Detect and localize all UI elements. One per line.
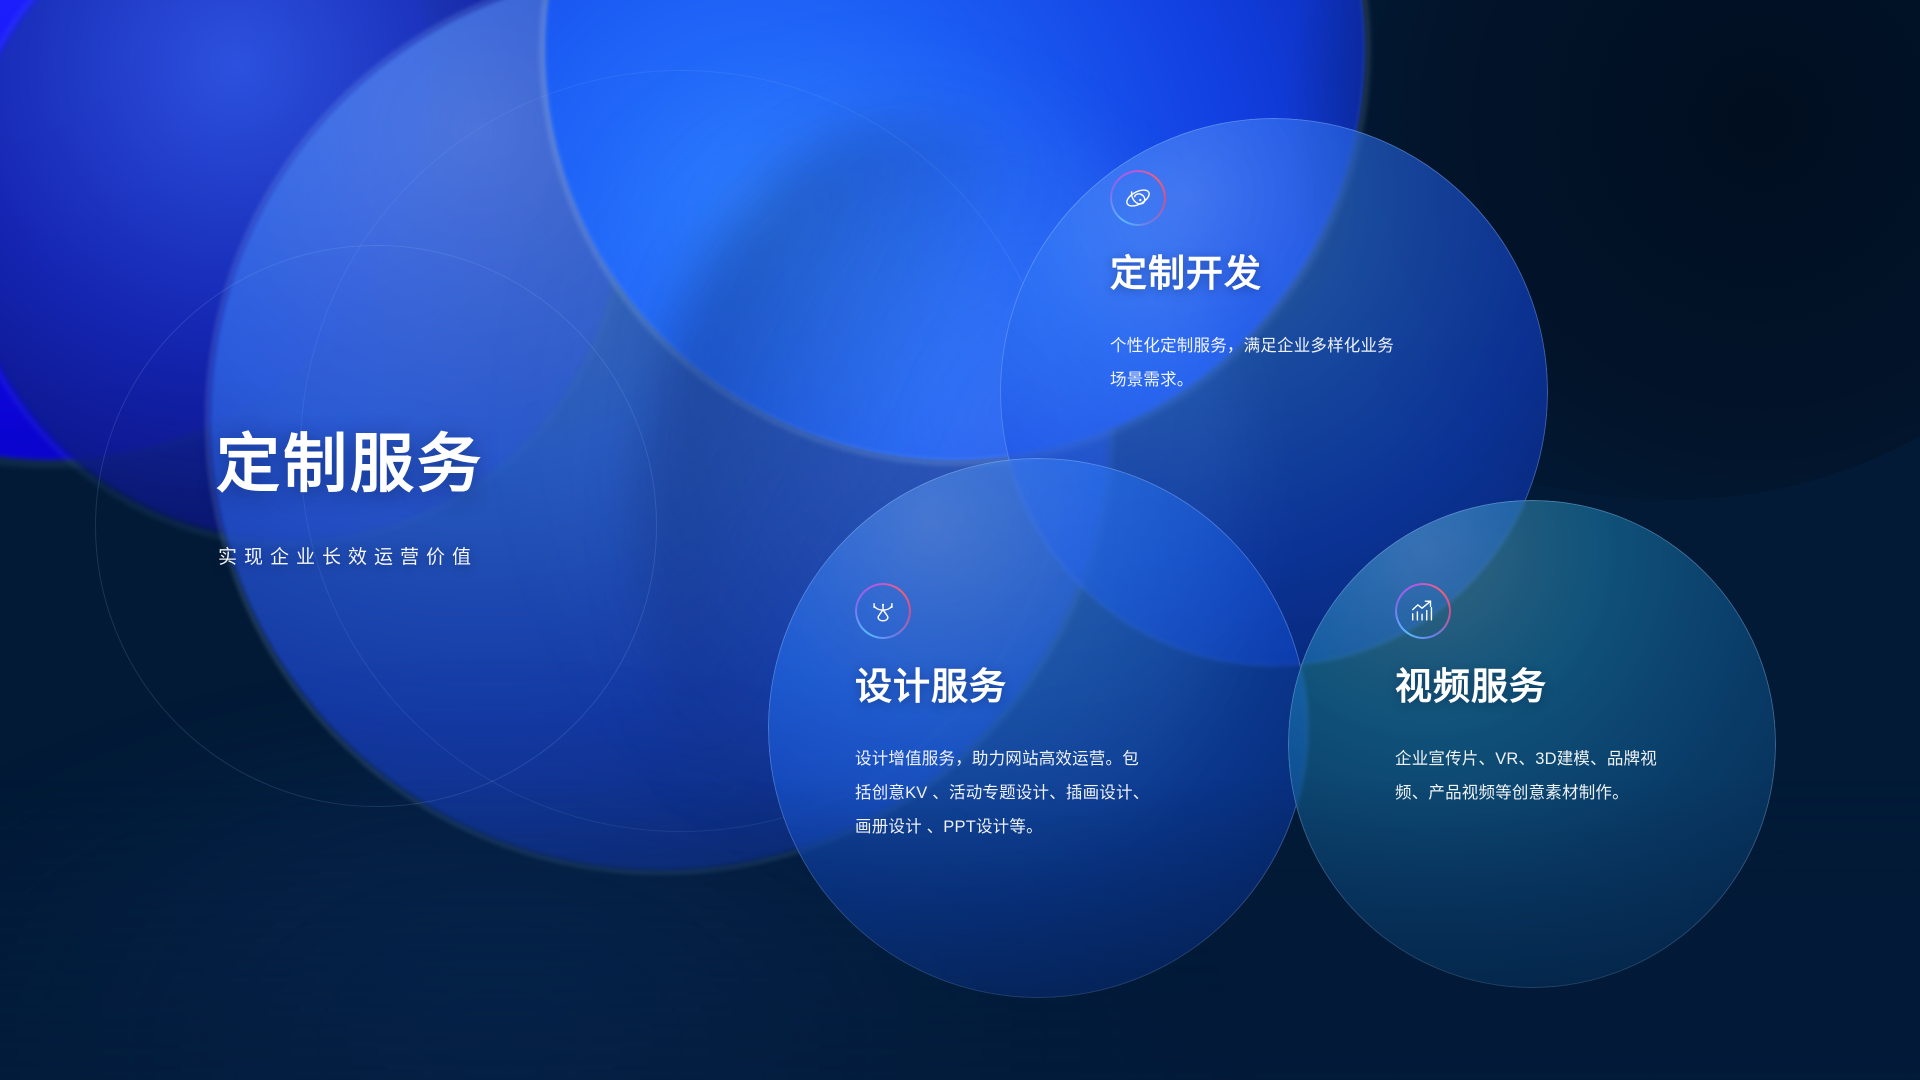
service-card-description: 个性化定制服务，满足企业多样化业务场景需求。 [1110,329,1400,397]
service-card-description: 设计增值服务，助力网站高效运营。包括创意KV 、活动专题设计、插画设计、画册设计… [855,742,1155,844]
background-sphere-electric-blue-rim [0,0,435,465]
pen-tool-ink-drop-icon [855,583,911,639]
page-subtitle: 实现企业长效运营价值 [218,542,484,569]
service-card-title: 定制开发 [1110,254,1410,295]
service-card-video-service-content: 视频服务 企业宣传片、VR、3D建模、品牌视频、产品视频等创意素材制作。 [1395,583,1695,810]
page-title: 定制服务 [216,432,484,496]
service-card-title: 视频服务 [1395,667,1695,708]
atom-orbit-icon [1110,170,1166,226]
background-sphere-electric-blue [0,0,430,460]
service-card-description: 企业宣传片、VR、3D建模、品牌视频、产品视频等创意素材制作。 [1395,742,1685,810]
hero-banner: 定制服务 实现企业长效运营价值 定制开发 个性化定制服务，满足企业多样化业务场景… [0,0,1920,1080]
service-card-design-service-content: 设计服务 设计增值服务，助力网站高效运营。包括创意KV 、活动专题设计、插画设计… [855,583,1165,844]
service-card-custom-development-content: 定制开发 个性化定制服务，满足企业多样化业务场景需求。 [1110,170,1410,397]
growth-chart-icon [1395,583,1451,639]
hero-text-block: 定制服务 实现企业长效运营价值 [216,432,484,569]
service-card-title: 设计服务 [855,667,1165,708]
